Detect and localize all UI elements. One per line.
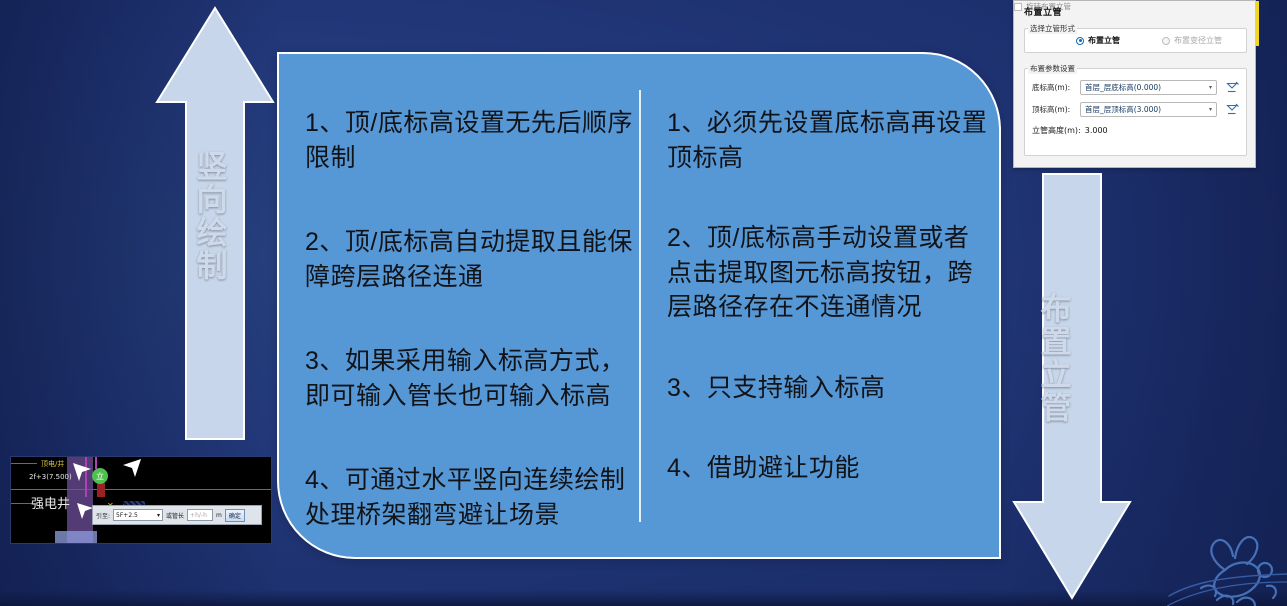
dialog-title: 布置立管 xyxy=(1024,5,1062,18)
rabbit-swirl-decoration xyxy=(1167,526,1287,606)
slide-canvas: 竖向绘制 布置立管 1、顶/底标高设置无先后顺序限制 2、顶/底标高自动提取且能… xyxy=(0,0,1287,606)
column-divider xyxy=(639,90,641,522)
list-item: 1、顶/底标高设置无先后顺序限制 xyxy=(305,106,635,175)
confirm-button[interactable]: 确定 xyxy=(225,509,245,522)
vertical-label-right: 布置立管 xyxy=(1036,292,1069,424)
pick-element-elevation-icon[interactable] xyxy=(1225,81,1239,95)
top-elevation-value: 首层_层顶标高(3.000) xyxy=(1085,104,1161,115)
riser-height-value: 3.000 xyxy=(1085,126,1108,135)
layout-params-group-caption: 布置参数设置 xyxy=(1028,63,1077,74)
list-item: 4、可通过水平竖向连续绘制处理桥架翻弯避让场景 xyxy=(305,463,635,532)
chevron-down-icon: ▾ xyxy=(1209,84,1212,91)
right-notes-column: 1、必须先设置底标高再设置顶标高 2、顶/底标高手动设置或者点击提取图元标高按钮… xyxy=(667,94,989,486)
riser-height-row: 立管高度(m): 3.000 xyxy=(1032,125,1108,136)
cursor-arrow-icon xyxy=(121,457,143,484)
list-item: 3、如果采用输入标高方式，即可输入管长也可输入标高 xyxy=(305,344,635,413)
lead-value-combo[interactable]: 5F+2.5 ▾ xyxy=(113,509,163,521)
top-elevation-row: 顶标高(m): 首层_层顶标高(3.000) ▾ xyxy=(1032,102,1239,117)
list-item: 2、顶/底标高手动设置或者点击提取图元标高按钮，跨层路径存在不连通情况 xyxy=(667,221,989,325)
radio-on-icon xyxy=(1076,37,1084,45)
lead-label: 引至: xyxy=(96,511,110,520)
cad-elevation-text: 2f+3(7.500) xyxy=(29,473,72,481)
comparison-panel: 1、顶/底标高设置无先后顺序限制 2、顶/底标高自动提取且能保障跨层路径连通 3… xyxy=(277,52,1001,559)
top-elevation-label: 顶标高(m): xyxy=(1032,104,1080,115)
radio-layout-riser[interactable]: 布置立管 xyxy=(1076,35,1120,46)
radio-off-icon xyxy=(1162,37,1170,45)
svg-text:立: 立 xyxy=(96,471,104,481)
cad-screenshot-thumbnail: 顶电/井 2f+3(7.500) 强电井 ✕ 立 xyxy=(10,456,272,544)
chevron-down-icon: ▾ xyxy=(1209,106,1212,113)
bottom-elevation-combo[interactable]: 首层_层底标高(0.000) ▾ xyxy=(1080,80,1217,95)
riser-form-group-caption: 选择立管形式 xyxy=(1028,23,1077,34)
pick-element-elevation-icon[interactable] xyxy=(1225,103,1239,117)
unit-label: m xyxy=(216,512,222,519)
checkbox-unchecked-icon xyxy=(1014,3,1022,11)
dialog-accent-strip xyxy=(1255,1,1259,46)
radio-layout-riser-label: 布置立管 xyxy=(1088,35,1120,46)
cursor-arrow-icon xyxy=(71,461,93,488)
riser-green-badge-icon: 立 xyxy=(91,467,109,490)
down-arrow-shape xyxy=(1012,172,1132,600)
list-item: 2、顶/底标高自动提取且能保障跨层路径连通 xyxy=(305,225,635,294)
riser-height-label: 立管高度(m): xyxy=(1032,125,1081,136)
riser-layout-dialog: 布置立管 选择立管形式 布置立管 布置变径立管 布置参数设置 底标高(m): 首… xyxy=(1013,0,1256,168)
top-elevation-combo[interactable]: 首层_层顶标高(3.000) ▾ xyxy=(1080,102,1217,117)
length-label: 或管长 xyxy=(166,511,184,520)
bottom-elevation-value: 首层_层底标高(0.000) xyxy=(1085,82,1161,93)
vertical-label-left: 竖向绘制 xyxy=(192,150,225,282)
radio-reducing-riser-label: 布置变径立管 xyxy=(1174,35,1222,46)
chevron-down-icon: ▾ xyxy=(157,512,160,519)
left-notes-column: 1、顶/底标高设置无先后顺序限制 2、顶/底标高自动提取且能保障跨层路径连通 3… xyxy=(305,94,635,532)
list-item: 3、只支持输入标高 xyxy=(667,371,989,406)
lead-value: 5F+2.5 xyxy=(116,512,138,519)
cad-top-text: 顶电/井 xyxy=(41,459,64,469)
length-input[interactable]: +h/-h xyxy=(187,509,213,521)
bottom-elevation-row: 底标高(m): 首层_层底标高(0.000) ▾ xyxy=(1032,80,1239,95)
list-item: 4、借助避让功能 xyxy=(667,451,989,486)
radio-reducing-riser[interactable]: 布置变径立管 xyxy=(1162,35,1222,46)
bottom-elevation-label: 底标高(m): xyxy=(1032,82,1080,93)
cad-input-bar[interactable]: 引至: 5F+2.5 ▾ 或管长 +h/-h m 确定 xyxy=(92,505,262,525)
cad-shaft-text: 强电井 xyxy=(31,493,70,512)
list-item: 1、必须先设置底标高再设置顶标高 xyxy=(667,106,989,175)
